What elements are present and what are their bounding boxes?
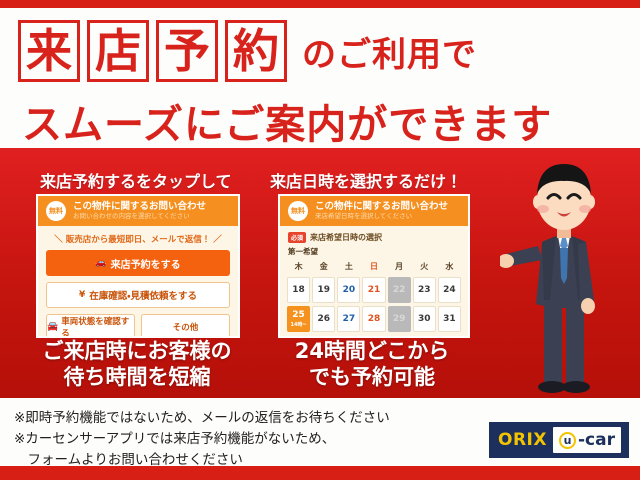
weekday-sat: 土 [336, 259, 361, 274]
card-header: 無料 この物件に関するお問い合わせ お問い合わせの内容を選択してください [38, 196, 238, 226]
orix-ucar-logo: ORIX u -car [489, 422, 629, 458]
date-cell-disabled: 29 [388, 306, 411, 332]
card-header-subtitle: 来店希望日時を選択してください [315, 213, 448, 220]
vehicle-condition-button[interactable]: 🚘 車両状態を確認する [46, 314, 135, 338]
date-cell[interactable]: 27 [337, 306, 360, 332]
weekday-sun: 日 [361, 259, 386, 274]
calendar-field-label: 来店希望日時の選択 [310, 232, 382, 243]
free-badge: 無料 [46, 201, 66, 221]
date-cell[interactable]: 20 [337, 277, 360, 303]
car-icon: 🚗 [95, 258, 106, 268]
reserve-visit-button[interactable]: 🚗 来店予約をする [46, 250, 230, 276]
headline-boxed-char-2: 店 [87, 20, 149, 82]
weekday-mon: 月 [387, 259, 412, 274]
weekday-tue: 火 [412, 259, 437, 274]
date-cell[interactable]: 28 [362, 306, 385, 332]
card-header-subtitle: お問い合わせの内容を選択してください [73, 213, 206, 220]
calendar-week-row: 18 19 20 21 22 23 24 [286, 277, 462, 303]
card-header-title: この物件に関するお問い合わせ [73, 202, 206, 212]
headline-line-2: スムーズにご案内ができます [22, 92, 552, 150]
bottom-rule [0, 466, 640, 480]
reserve-visit-label: 来店予約をする [111, 256, 181, 271]
top-rule [0, 0, 640, 8]
date-cell[interactable]: 23 [413, 277, 436, 303]
date-cell-slot: 14時~ [290, 321, 306, 328]
date-cell[interactable]: 26 [312, 306, 335, 332]
date-cell[interactable]: 19 [312, 277, 335, 303]
date-cell-selected[interactable]: 25 14時~ [287, 306, 310, 332]
yen-icon: ¥ [79, 290, 85, 300]
date-cell-disabled: 22 [388, 277, 411, 303]
date-cell[interactable]: 31 [438, 306, 461, 332]
date-cell[interactable]: 30 [413, 306, 436, 332]
date-cell[interactable]: 24 [438, 277, 461, 303]
calendar-weekday-header: 木 金 土 日 月 火 水 [286, 259, 462, 274]
benefit-text-left: ご来店時にお客様の 待ち時間を短縮 [18, 338, 256, 391]
headline-line-1: 来 店 予 約 のご利用で [18, 20, 477, 82]
left-section-heading: 来店予約するをタップして [40, 168, 232, 192]
weekday-thu: 木 [286, 259, 311, 274]
benefit-text-right: 24時間どこから でも予約可能 [262, 338, 482, 391]
stock-quote-label: 在庫確認・見積依頼をする [89, 288, 197, 302]
footer-notes: ※即時予約機能ではないため、メールの返信をお待ちください ※カーセンサーアプリで… [14, 408, 390, 471]
calendar-week-row: 25 14時~ 26 27 28 29 30 31 [286, 306, 462, 332]
required-badge: 必須 [288, 232, 306, 243]
first-choice-label: 第一希望 [280, 243, 468, 257]
free-badge: 無料 [288, 201, 308, 221]
headline-boxed-char-3: 予 [156, 20, 218, 82]
card-header: 無料 この物件に関するお問い合わせ 来店希望日時を選択してください [280, 196, 468, 226]
car-side-icon: 🚘 [47, 322, 58, 332]
date-cell[interactable]: 18 [287, 277, 310, 303]
promo-text: ＼ 販売店から最短即日、メールで返信！ ／ [38, 233, 238, 245]
headline-tail: のご利用で [302, 27, 477, 76]
inquiry-form-card: 無料 この物件に関するお問い合わせ お問い合わせの内容を選択してください ＼ 販… [36, 194, 240, 338]
date-cell-day: 25 [292, 310, 305, 320]
calendar-field-label-row: 必須 来店希望日時の選択 [280, 226, 468, 243]
headline-block: 来 店 予 約 のご利用で スムーズにご案内ができます [0, 8, 640, 148]
headline-boxed-char-4: 約 [225, 20, 287, 82]
vehicle-condition-label: 車両状態を確認する [61, 315, 134, 338]
logo-car-text: -car [578, 430, 615, 450]
visit-reservation-banner: 来 店 予 約 のご利用で スムーズにご案内ができます 来店予約するをタップして… [0, 0, 640, 480]
logo-u-circle: u [559, 432, 576, 449]
logo-orix-text: ORIX [490, 430, 553, 450]
right-section-heading: 来店日時を選択するだけ！ [270, 168, 462, 192]
businessman-illustration [500, 150, 628, 400]
stock-quote-button[interactable]: ¥ 在庫確認・見積依頼をする [46, 282, 230, 308]
headline-boxed-char-1: 来 [18, 20, 80, 82]
card-header-title: この物件に関するお問い合わせ [315, 202, 448, 212]
other-label: その他 [173, 321, 199, 333]
other-button[interactable]: その他 [141, 314, 230, 338]
date-selection-card: 無料 この物件に関するお問い合わせ 来店希望日時を選択してください 必須 来店希… [278, 194, 470, 338]
calendar-grid: 木 金 土 日 月 火 水 18 19 20 21 22 23 24 25 1 [280, 257, 468, 332]
logo-ucar-badge: u -car [553, 427, 621, 453]
weekday-fri: 金 [311, 259, 336, 274]
weekday-wed: 水 [437, 259, 462, 274]
date-cell[interactable]: 21 [362, 277, 385, 303]
